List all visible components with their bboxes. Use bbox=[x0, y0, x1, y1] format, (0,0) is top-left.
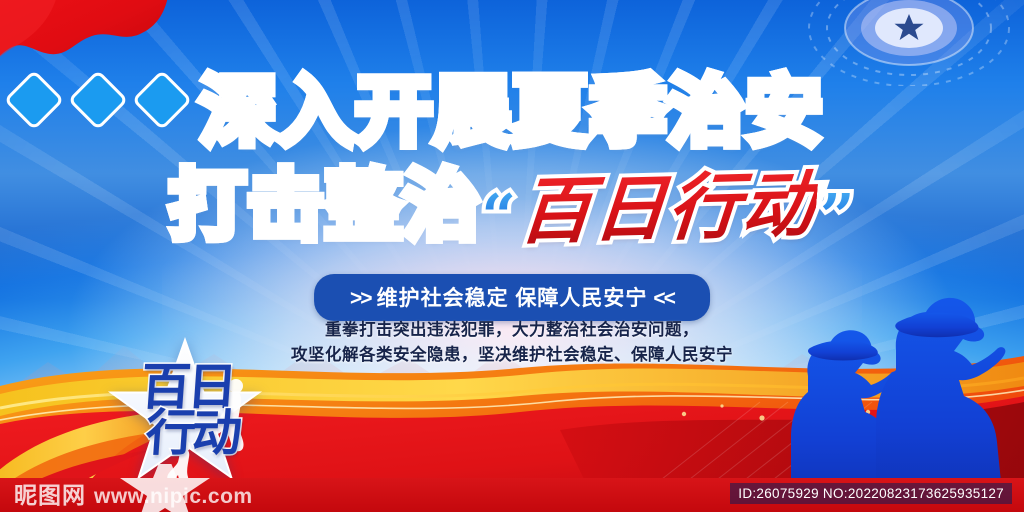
quote-open-mark: “ “ bbox=[481, 190, 516, 244]
poster-canvas: 百日 行动 深入开展夏季治安 深入开展夏季治安 打击整治 打击整治 “ “ bbox=[0, 0, 1024, 512]
site-watermark: 昵图网 www.nipic.com bbox=[14, 476, 253, 510]
main-title-line1-text: 深入开展夏季治安 bbox=[200, 67, 824, 156]
subtitle-banner: >>维护社会稳定 保障人民安宁<< bbox=[314, 274, 710, 321]
main-title-line1: 深入开展夏季治安 深入开展夏季治安 bbox=[0, 74, 1024, 150]
chevron-right-glyph: << bbox=[647, 287, 680, 310]
quote-close-mark: ” ” bbox=[820, 190, 855, 244]
chevron-left-glyph: >> bbox=[344, 287, 377, 310]
watermark-brand: 昵图网 bbox=[14, 476, 86, 510]
highlight-calligraphy: 百日行动 百日行动 bbox=[513, 168, 823, 248]
highlight-calligraphy-text: 百日行动 bbox=[516, 161, 819, 254]
asset-id-badge: ID:26075929 NO:20220823173625935127 bbox=[730, 483, 1012, 504]
main-title-line2-prefix: 打击整治 打击整治 bbox=[169, 168, 481, 244]
watermark-url: www.nipic.com bbox=[94, 485, 253, 509]
subtitle-banner-text: 维护社会稳定 保障人民安宁 bbox=[377, 287, 648, 310]
title-block: 深入开展夏季治安 深入开展夏季治安 打击整治 打击整治 “ “ 百日行动 百日行… bbox=[0, 74, 1024, 244]
main-title-line2-prefix-text: 打击整治 bbox=[169, 161, 481, 250]
main-title-line2: 打击整治 打击整治 “ “ 百日行动 百日行动 ” ” bbox=[0, 160, 1024, 244]
